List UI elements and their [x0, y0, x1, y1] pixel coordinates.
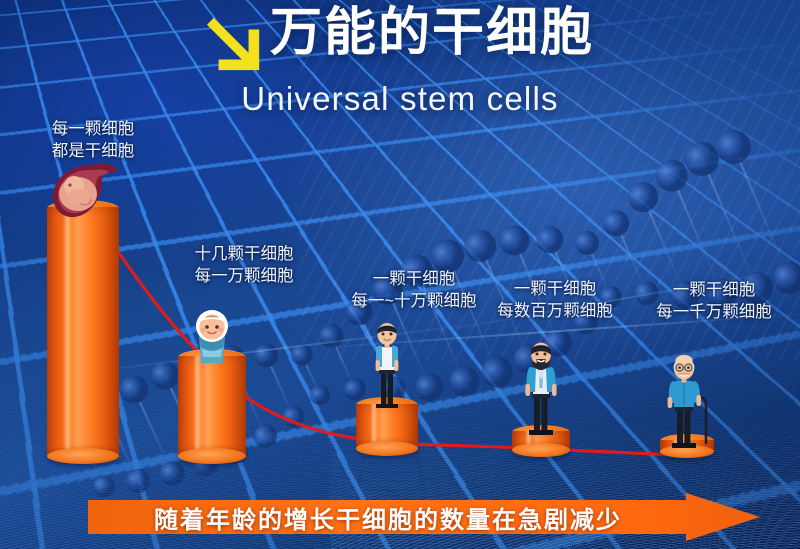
caption-baby-line1: 十几颗干细胞: [164, 243, 324, 265]
caption-elderly-line2: 每一千万颗细胞: [630, 301, 798, 323]
caption-fetus: 每一颗细胞 都是干细胞: [18, 118, 168, 163]
banner-text: 随着年龄的增长干细胞的数量在急剧减少: [88, 493, 688, 541]
bar-baby: [178, 356, 246, 464]
bar-middle-aged-bottom: [512, 443, 570, 457]
caption-middle-aged-line1: 一颗干细胞: [469, 278, 641, 300]
bearded-man-icon: [514, 340, 568, 438]
caption-fetus-line1: 每一颗细胞: [18, 118, 168, 140]
arrow-down-right-icon: [206, 14, 264, 76]
bar-fetus-bottom: [47, 448, 119, 464]
caption-middle-aged-line2: 每数百万颗细胞: [469, 300, 641, 322]
caption-middle-aged: 一颗干细胞 每数百万颗细胞: [469, 278, 641, 323]
caption-baby-line2: 每一万颗细胞: [164, 265, 324, 287]
young-man-icon: [362, 320, 412, 412]
bar-young-adult-bottom: [356, 441, 418, 456]
elderly-man-with-cane-icon: [657, 353, 717, 449]
caption-baby: 十几颗干细胞 每一万颗细胞: [164, 243, 324, 288]
fetus-in-womb-icon: [45, 160, 123, 222]
bar-baby-bottom: [178, 448, 246, 464]
page-subtitle: Universal stem cells: [0, 80, 800, 118]
infographic-poster: 万能的干细胞 Universal stem cells 每一颗细胞 都是干细胞 …: [0, 0, 800, 549]
poster-header: 万能的干细胞 Universal stem cells: [0, 6, 800, 118]
bar-fetus: [47, 207, 119, 463]
bar-fetus-body: [47, 207, 119, 456]
page-title: 万能的干细胞: [270, 6, 594, 61]
swaddled-baby-icon: [190, 307, 234, 367]
bar-baby-body: [178, 356, 246, 456]
bottom-banner: 随着年龄的增长干细胞的数量在急剧减少: [88, 493, 760, 541]
caption-elderly: 一颗干细胞 每一千万颗细胞: [630, 279, 798, 324]
caption-elderly-line1: 一颗干细胞: [630, 279, 798, 301]
